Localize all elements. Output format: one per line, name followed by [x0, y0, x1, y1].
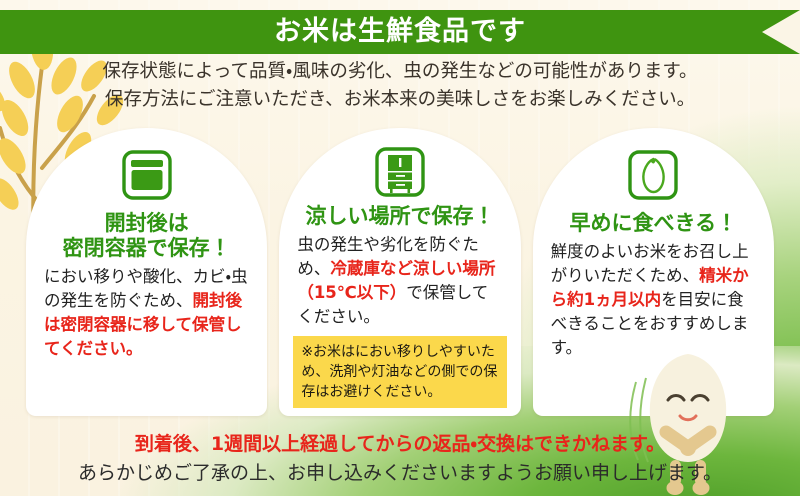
sealed-container-icon	[121, 149, 173, 201]
card-title: 涼しい場所で保存！	[305, 203, 494, 228]
lead-line-2: 保存方法にご注意いただき、お米本来の美味しさをお楽しみください。	[0, 86, 800, 114]
card-title-line-1: 開封後は	[105, 210, 189, 235]
footer-line-1: 到着後、1週間以上経過してからの返品・交換はできかねます。	[0, 430, 800, 458]
rice-grain-icon	[627, 149, 679, 201]
infographic-root: お米は生鮮食品です 保存状態によって品質・風味の劣化、虫の発生などの可能性があり…	[0, 0, 800, 496]
page-title: お米は生鮮食品です	[0, 10, 800, 54]
footer-line-2: あらかじめご了承の上、お申し込みくださいますようお願い申し上げます。	[0, 458, 800, 488]
card-body: におい移りや酸化、カビ・虫の発生を防ぐため、開封後は密閉容器に移して保管してくだ…	[40, 265, 253, 361]
card-sealed-container: 開封後は 密閉容器で保存！ におい移りや酸化、カビ・虫の発生を防ぐため、開封後は…	[26, 128, 267, 416]
card-cool-place: 涼しい場所で保存！ 虫の発生や劣化を防ぐため、冷蔵庫など涼しい場所（15℃以下）…	[279, 128, 520, 416]
card-title: 早めに食べきる！	[570, 210, 738, 235]
card-icon-slot	[121, 144, 173, 206]
card-icon-slot	[374, 144, 426, 199]
card-body: 鮮度のよいお米をお召し上がりいただくため、精米から約1ヵ月以内を目安に食べきるこ…	[547, 240, 760, 360]
lead-paragraph: 保存状態によって品質・風味の劣化、虫の発生などの可能性があります。 保存方法にご…	[0, 58, 800, 114]
card-body: 虫の発生や劣化を防ぐため、冷蔵庫など涼しい場所（15℃以下）で保管してください。	[293, 233, 506, 329]
footer-notice: 到着後、1週間以上経過してからの返品・交換はできかねます。 あらかじめご了承の上…	[0, 430, 800, 488]
card-note-box: ※お米はにおい移りしやすいため、洗剤や灯油などの側での保存はお避けください。	[293, 336, 506, 408]
card-title-line-1: 早めに食べきる！	[570, 210, 738, 235]
card-icon-slot	[627, 144, 679, 206]
refrigerator-icon	[374, 146, 426, 198]
card-title-line-2: 密閉容器で保存！	[63, 235, 231, 260]
header-ribbon: お米は生鮮食品です	[0, 10, 800, 54]
card-title-line-1: 涼しい場所で保存！	[305, 203, 494, 228]
lead-line-1: 保存状態によって品質・風味の劣化、虫の発生などの可能性があります。	[0, 58, 800, 86]
card-title: 開封後は 密閉容器で保存！	[63, 210, 231, 260]
